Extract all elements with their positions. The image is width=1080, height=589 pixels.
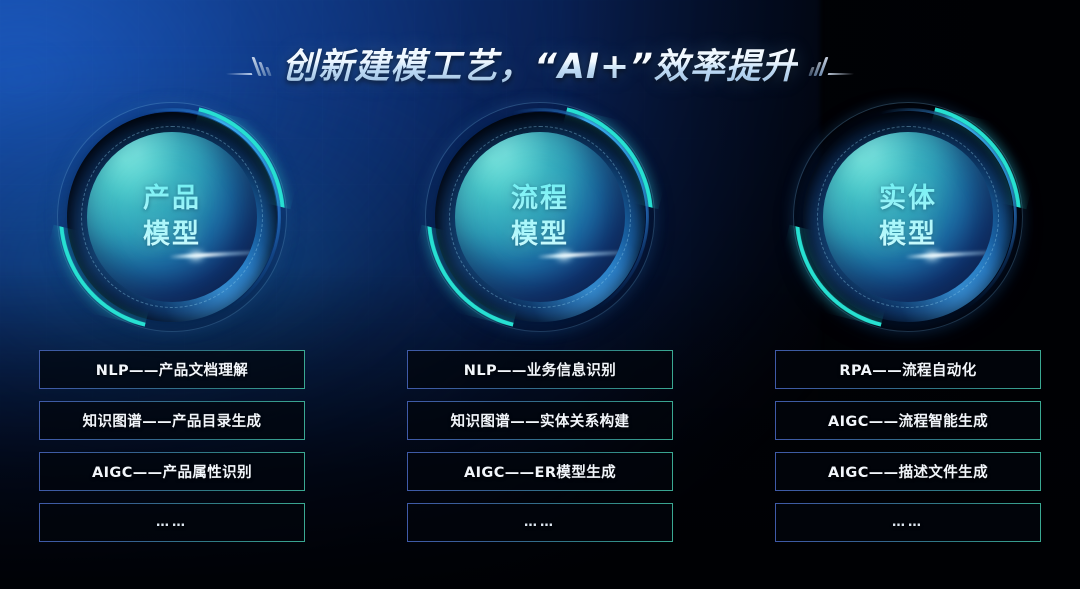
list-item-label: NLP——产品文档理解 xyxy=(96,359,248,380)
list-item-label: AIGC——产品属性识别 xyxy=(92,461,252,482)
badge-product-model[interactable]: 产品 模型 xyxy=(49,96,295,332)
list-item-label: AIGC——ER模型生成 xyxy=(464,461,616,482)
column-process-model: 流程 模型 NLP——业务信息识别 知识图谱——实体关系构建 AIGC——ER模… xyxy=(407,96,673,566)
column-entity-model: 实体 模型 RPA——流程自动化 AIGC——流程智能生成 AIGC——描述文件… xyxy=(775,96,1041,566)
list-item[interactable]: NLP——产品文档理解 xyxy=(39,350,305,389)
list-item[interactable]: NLP——业务信息识别 xyxy=(407,350,673,389)
list-item-more[interactable]: …… xyxy=(407,503,673,542)
list-item[interactable]: 知识图谱——产品目录生成 xyxy=(39,401,305,440)
badge-label-line2: 模型 xyxy=(143,217,201,253)
badge-entity-model[interactable]: 实体 模型 xyxy=(785,96,1031,332)
list-item[interactable]: 知识图谱——实体关系构建 xyxy=(407,401,673,440)
badge-disc: 流程 模型 xyxy=(455,132,625,302)
item-list-process-model: NLP——业务信息识别 知识图谱——实体关系构建 AIGC——ER模型生成 …… xyxy=(407,350,673,542)
list-item[interactable]: AIGC——ER模型生成 xyxy=(407,452,673,491)
slash-decoration-left-icon xyxy=(226,50,270,76)
list-item-label: AIGC——流程智能生成 xyxy=(828,410,988,431)
badge-label-line2: 模型 xyxy=(511,217,569,253)
item-list-product-model: NLP——产品文档理解 知识图谱——产品目录生成 AIGC——产品属性识别 …… xyxy=(39,350,305,542)
badge-disc: 实体 模型 xyxy=(823,132,993,302)
slash-decoration-right-icon xyxy=(810,50,854,76)
column-product-model: 产品 模型 NLP——产品文档理解 知识图谱——产品目录生成 AIGC——产品属… xyxy=(39,96,305,566)
badge-label-line2: 模型 xyxy=(879,217,937,253)
list-item-label: RPA——流程自动化 xyxy=(839,359,976,380)
list-item[interactable]: AIGC——描述文件生成 xyxy=(775,452,1041,491)
list-item-label: …… xyxy=(892,515,924,530)
list-item-label: …… xyxy=(524,515,556,530)
list-item-label: …… xyxy=(156,515,188,530)
slide-canvas: 创新建模工艺，“AI+”效率提升 xyxy=(0,0,1080,589)
list-item-more[interactable]: …… xyxy=(775,503,1041,542)
page-title: 创新建模工艺，“AI+”效率提升 xyxy=(282,38,798,89)
badge-disc: 产品 模型 xyxy=(87,132,257,302)
badge-label: 实体 模型 xyxy=(879,181,937,252)
badge-label: 流程 模型 xyxy=(511,181,569,252)
badge-label: 产品 模型 xyxy=(143,181,201,252)
list-item-label: 知识图谱——产品目录生成 xyxy=(83,410,262,431)
title-bar: 创新建模工艺，“AI+”效率提升 xyxy=(0,34,1080,92)
badge-process-model[interactable]: 流程 模型 xyxy=(417,96,663,332)
model-columns: 产品 模型 NLP——产品文档理解 知识图谱——产品目录生成 AIGC——产品属… xyxy=(0,96,1080,566)
badge-label-line1: 产品 xyxy=(143,181,201,217)
list-item[interactable]: AIGC——产品属性识别 xyxy=(39,452,305,491)
item-list-entity-model: RPA——流程自动化 AIGC——流程智能生成 AIGC——描述文件生成 …… xyxy=(775,350,1041,542)
list-item-label: NLP——业务信息识别 xyxy=(464,359,616,380)
list-item-more[interactable]: …… xyxy=(39,503,305,542)
badge-label-line1: 实体 xyxy=(879,181,937,217)
list-item-label: AIGC——描述文件生成 xyxy=(828,461,988,482)
list-item-label: 知识图谱——实体关系构建 xyxy=(451,410,630,431)
badge-label-line1: 流程 xyxy=(511,181,569,217)
list-item[interactable]: RPA——流程自动化 xyxy=(775,350,1041,389)
list-item[interactable]: AIGC——流程智能生成 xyxy=(775,401,1041,440)
